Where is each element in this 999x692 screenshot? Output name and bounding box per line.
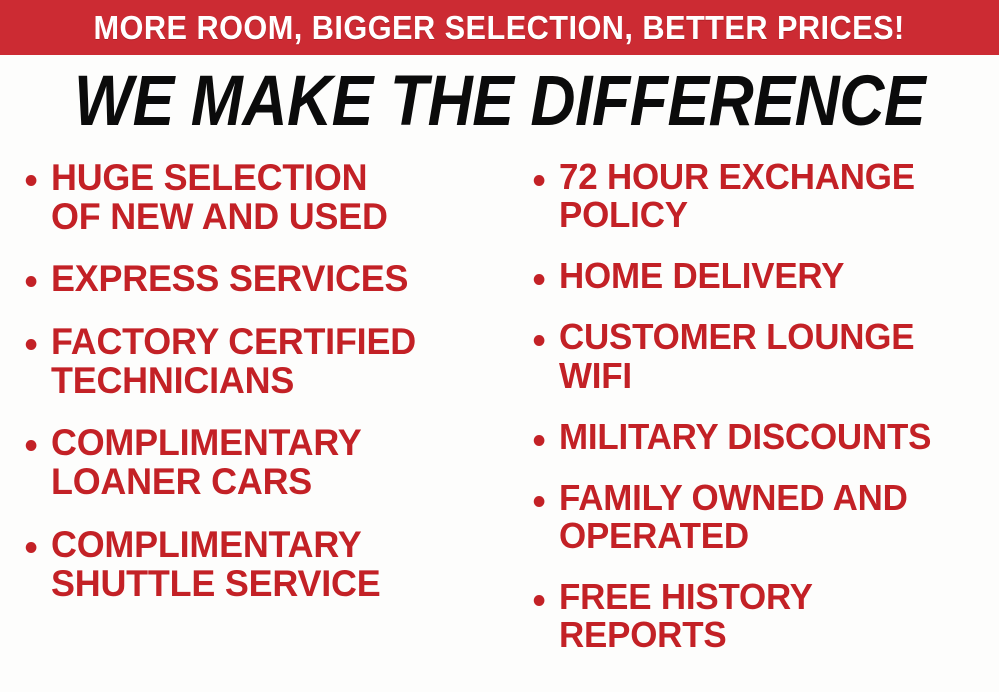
list-item: COMPLIMENTARY LOANER CARS: [18, 423, 487, 501]
list-item: HUGE SELECTION OF NEW AND USED: [18, 158, 487, 236]
benefits-columns: HUGE SELECTION OF NEW AND USED EXPRESS S…: [0, 158, 999, 692]
main-headline-text: WE MAKE THE DIFFERENCE: [74, 66, 925, 137]
list-item: FAMILY OWNED AND OPERATED: [526, 479, 983, 555]
main-headline: WE MAKE THE DIFFERENCE: [0, 66, 999, 137]
list-item: FREE HISTORY REPORTS: [526, 578, 983, 654]
banner-headline-text: MORE ROOM, BIGGER SELECTION, BETTER PRIC…: [94, 9, 905, 47]
list-item: EXPRESS SERVICES: [18, 259, 487, 298]
top-banner: MORE ROOM, BIGGER SELECTION, BETTER PRIC…: [0, 0, 999, 55]
list-item: COMPLIMENTARY SHUTTLE SERVICE: [18, 525, 487, 603]
list-item: CUSTOMER LOUNGE WIFI: [526, 318, 983, 394]
list-item: FACTORY CERTIFIED TECHNICIANS: [18, 322, 487, 400]
benefits-column-right: 72 HOUR EXCHANGE POLICY HOME DELIVERY CU…: [505, 158, 999, 692]
benefits-column-left: HUGE SELECTION OF NEW AND USED EXPRESS S…: [0, 158, 505, 692]
dealership-promo-poster: MORE ROOM, BIGGER SELECTION, BETTER PRIC…: [0, 0, 999, 692]
list-item: 72 HOUR EXCHANGE POLICY: [526, 158, 983, 234]
list-item: MILITARY DISCOUNTS: [526, 418, 983, 456]
list-item: HOME DELIVERY: [526, 257, 983, 295]
